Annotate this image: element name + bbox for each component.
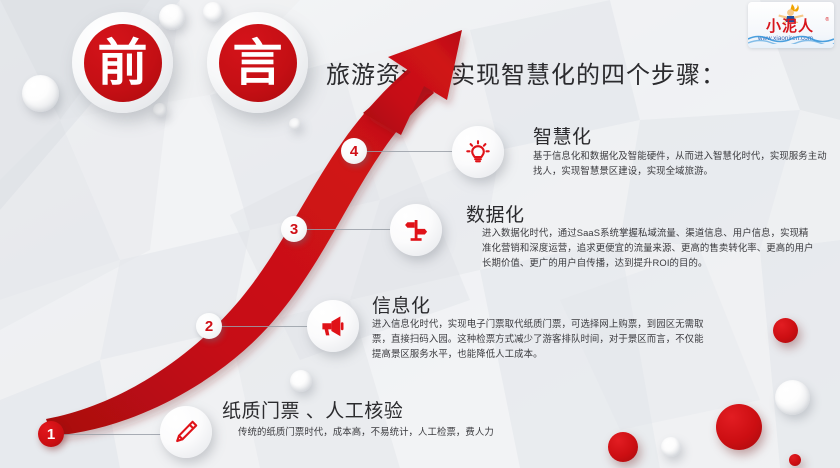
step-1-heading: 纸质门票 、人工核验 xyxy=(222,396,403,423)
step-marker-3-number: 3 xyxy=(290,221,298,238)
badge-yan-char: 言 xyxy=(219,24,297,102)
decor-sphere-white-1 xyxy=(22,75,59,112)
decor-sphere-white-7 xyxy=(775,380,810,415)
step-marker-1[interactable]: 1 xyxy=(38,421,64,447)
decor-sphere-white-8 xyxy=(661,437,681,457)
step-icon-bubble-4[interactable] xyxy=(452,126,504,178)
megaphone-icon xyxy=(319,312,347,340)
step-3-heading: 数据化 xyxy=(466,200,525,227)
badge-yan: 言 xyxy=(207,12,308,113)
pencil-icon xyxy=(172,418,200,446)
connector-line-4 xyxy=(358,151,453,152)
signpost-icon xyxy=(402,216,430,244)
decor-sphere-red-1 xyxy=(773,318,798,343)
step-4-body: 基于信息化和数据化及智能硬件，从而进入智慧化时代，实现服务主动找人，实现智慧景区… xyxy=(533,148,833,178)
step-marker-4[interactable]: 4 xyxy=(341,138,367,164)
decor-sphere-white-3 xyxy=(153,103,167,117)
registered-mark-icon: ® xyxy=(825,17,829,23)
step-marker-2[interactable]: 2 xyxy=(196,313,222,339)
connector-line-3 xyxy=(300,229,392,230)
step-marker-1-number: 1 xyxy=(47,426,55,443)
lightbulb-icon xyxy=(464,138,492,166)
brand-logo[interactable]: 小泥人 ® www.xiaoniren.com xyxy=(748,2,834,48)
decor-sphere-red-3 xyxy=(608,432,638,462)
decor-sphere-white-4 xyxy=(203,2,223,22)
step-marker-3[interactable]: 3 xyxy=(281,216,307,242)
step-marker-4-number: 4 xyxy=(350,143,358,160)
step-1-body: 传统的纸质门票时代，成本高，不易统计，人工检票，费人力 xyxy=(238,424,568,439)
step-marker-2-number: 2 xyxy=(205,318,213,335)
page-title: 旅游资源方实现智慧化的四个步骤： xyxy=(326,55,726,90)
wave-icon xyxy=(748,31,834,48)
decor-sphere-red-2 xyxy=(716,404,762,450)
step-2-heading: 信息化 xyxy=(372,291,431,318)
step-icon-bubble-2[interactable] xyxy=(307,300,359,352)
step-4-heading: 智慧化 xyxy=(533,122,592,149)
badge-qian: 前 xyxy=(72,12,173,113)
step-2-body: 进入信息化时代，实现电子门票取代纸质门票，可选择网上购票，到园区无需取票，直接扫… xyxy=(372,316,710,362)
step-icon-bubble-3[interactable] xyxy=(390,204,442,256)
badge-qian-char: 前 xyxy=(84,24,162,102)
decor-sphere-red-4 xyxy=(789,454,801,466)
slide-canvas: 前 言 旅游资源方实现智慧化的四个步骤： xyxy=(0,0,840,468)
step-icon-bubble-1[interactable] xyxy=(160,406,212,458)
step-3-body: 进入数据化时代，通过SaaS系统掌握私域流量、渠道信息、用户信息，实现精准化营销… xyxy=(482,225,814,271)
decor-sphere-white-5 xyxy=(289,118,301,130)
decor-sphere-white-2 xyxy=(159,4,185,30)
decor-sphere-white-6 xyxy=(290,370,312,392)
